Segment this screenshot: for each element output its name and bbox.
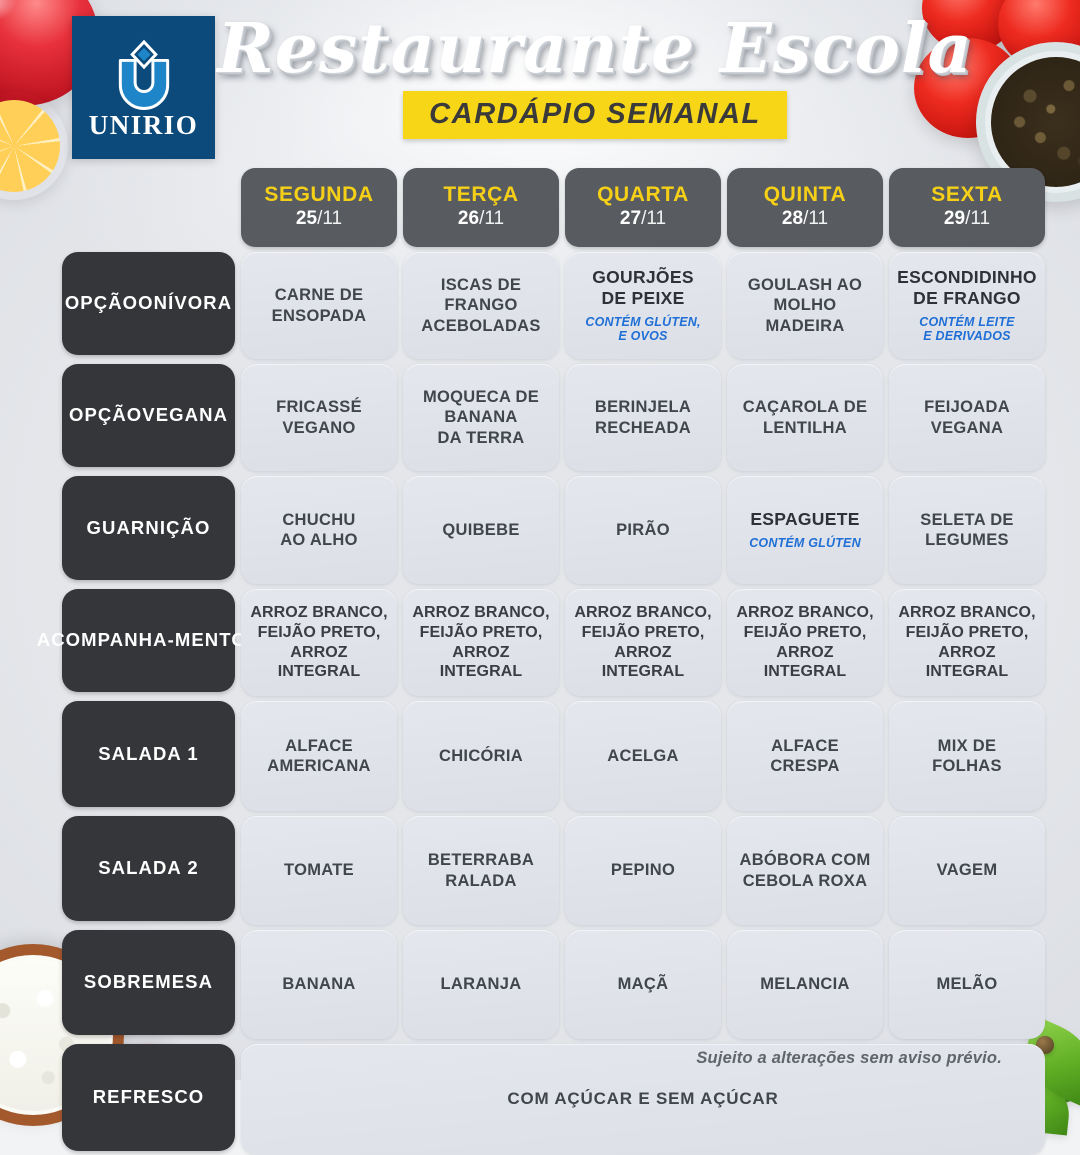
page-header: UNIRIO Restaurante Escola CARDÁPIO SEMAN… <box>0 0 1080 168</box>
row-label-7: SOBREMESA <box>62 930 235 1035</box>
day-header-terça: TERÇA26/11 <box>403 168 559 247</box>
day-date: 27/11 <box>620 208 666 231</box>
disclaimer-note: Sujeito a alterações sem aviso prévio. <box>696 1049 1002 1068</box>
cell-r2-c5: FEIJOADAVEGANA <box>889 364 1045 471</box>
cell-r3-c3: PIRÃO <box>565 476 721 584</box>
cell-text: MOQUECA DEBANANADA TERRA <box>423 387 539 447</box>
cell-text: BETERRABARALADA <box>428 850 534 890</box>
cell-text: ISCAS DEFRANGOACEBOLADAS <box>421 275 540 335</box>
day-name: SEXTA <box>931 184 1002 206</box>
unirio-crest-icon <box>107 36 181 110</box>
day-name: SEGUNDA <box>264 184 373 206</box>
row-label-3: GUARNIÇÃO <box>62 476 235 580</box>
cell-r6-c2: BETERRABARALADA <box>403 816 559 925</box>
cell-text: CARNE DEENSOPADA <box>272 285 367 325</box>
allergen-note: CONTÉM GLÚTEN,E OVOS <box>585 315 700 345</box>
cell-r1-c4: GOULASH AOMOLHOMADEIRA <box>727 252 883 359</box>
cell-text: PEPINO <box>611 860 675 880</box>
allergen-note: CONTÉM GLÚTEN <box>749 536 861 551</box>
cell-r7-c1: BANANA <box>241 930 397 1039</box>
row-label-2: OPÇÃOVEGANA <box>62 364 235 467</box>
cell-r6-c5: VAGEM <box>889 816 1045 925</box>
cell-text: SELETA DELEGUMES <box>920 510 1013 550</box>
cell-text: BANANA <box>282 974 355 994</box>
cell-r1-c5: ESCONDIDINHODE FRANGOCONTÉM LEITEE DERIV… <box>889 252 1045 359</box>
cell-text: BERINJELARECHEADA <box>595 397 691 437</box>
cell-text: QUIBEBE <box>442 520 519 540</box>
cell-text: TOMATE <box>284 860 354 880</box>
day-header-sexta: SEXTA29/11 <box>889 168 1045 247</box>
cell-r6-c1: TOMATE <box>241 816 397 925</box>
cell-r7-c4: MELANCIA <box>727 930 883 1039</box>
unirio-logo-text: UNIRIO <box>89 112 199 139</box>
cell-text: ABÓBORA COMCEBOLA ROXA <box>739 850 870 890</box>
day-name: QUINTA <box>764 184 847 206</box>
cell-r5-c4: ALFACECRESPA <box>727 701 883 811</box>
menu-grid: SEGUNDA25/11TERÇA26/11QUARTA27/11QUINTA2… <box>62 168 1018 1155</box>
cell-text: CHUCHUAO ALHO <box>280 510 358 550</box>
cell-text: ALFACECRESPA <box>770 736 839 776</box>
cell-r3-c1: CHUCHUAO ALHO <box>241 476 397 584</box>
cell-r6-c4: ABÓBORA COMCEBOLA ROXA <box>727 816 883 925</box>
cell-text: ARROZ BRANCO,FEIJÃO PRETO,ARROZ INTEGRAL <box>410 603 552 681</box>
cell-r2-c4: CAÇAROLA DELENTILHA <box>727 364 883 471</box>
cell-text: FEIJOADAVEGANA <box>924 397 1010 437</box>
cell-r1-c2: ISCAS DEFRANGOACEBOLADAS <box>403 252 559 359</box>
grid-corner-spacer <box>62 168 235 247</box>
cell-r3-c5: SELETA DELEGUMES <box>889 476 1045 584</box>
day-date: 29/11 <box>944 208 990 231</box>
page-title: Restaurante Escola <box>215 14 975 85</box>
cell-text: GOULASH AOMOLHOMADEIRA <box>748 275 862 335</box>
cell-r3-c4: ESPAGUETECONTÉM GLÚTEN <box>727 476 883 584</box>
cell-r5-c2: CHICÓRIA <box>403 701 559 811</box>
cell-r3-c2: QUIBEBE <box>403 476 559 584</box>
cell-r7-c3: MAÇÃ <box>565 930 721 1039</box>
cell-text: ARROZ BRANCO,FEIJÃO PRETO,ARROZ INTEGRAL <box>572 603 714 681</box>
cell-r4-c2: ARROZ BRANCO,FEIJÃO PRETO,ARROZ INTEGRAL <box>403 589 559 696</box>
cell-text: ARROZ BRANCO,FEIJÃO PRETO,ARROZ INTEGRAL <box>734 603 876 681</box>
row-label-8: REFRESCO <box>62 1044 235 1151</box>
day-header-segunda: SEGUNDA25/11 <box>241 168 397 247</box>
cell-text: MELANCIA <box>760 974 849 994</box>
cell-text: CHICÓRIA <box>439 746 523 766</box>
cell-r1-c3: GOURJÕESDE PEIXECONTÉM GLÚTEN,E OVOS <box>565 252 721 359</box>
cell-r2-c3: BERINJELARECHEADA <box>565 364 721 471</box>
cell-text: ARROZ BRANCO,FEIJÃO PRETO,ARROZ INTEGRAL <box>896 603 1038 681</box>
cell-text: CAÇAROLA DELENTILHA <box>743 397 868 437</box>
cell-r6-c3: PEPINO <box>565 816 721 925</box>
cell-text: ESPAGUETE <box>750 509 859 530</box>
day-header-quarta: QUARTA27/11 <box>565 168 721 247</box>
cell-r4-c1: ARROZ BRANCO,FEIJÃO PRETO,ARROZ INTEGRAL <box>241 589 397 696</box>
cell-r5-c1: ALFACEAMERICANA <box>241 701 397 811</box>
unirio-logo: UNIRIO <box>72 16 215 159</box>
cell-text: PIRÃO <box>616 520 670 540</box>
cell-r4-c3: ARROZ BRANCO,FEIJÃO PRETO,ARROZ INTEGRAL <box>565 589 721 696</box>
cell-r5-c5: MIX DEFOLHAS <box>889 701 1045 811</box>
cell-text: ARROZ BRANCO,FEIJÃO PRETO,ARROZ INTEGRAL <box>248 603 390 681</box>
cell-text: MIX DEFOLHAS <box>932 736 1002 776</box>
cell-text: MAÇÃ <box>618 974 669 994</box>
subtitle-badge: CARDÁPIO SEMANAL <box>403 91 787 139</box>
allergen-note: CONTÉM LEITEE DERIVADOS <box>919 315 1014 345</box>
cell-text: GOURJÕESDE PEIXE <box>592 267 694 310</box>
cell-r4-c4: ARROZ BRANCO,FEIJÃO PRETO,ARROZ INTEGRAL <box>727 589 883 696</box>
cell-text: LARANJA <box>441 974 522 994</box>
row-label-4: ACOMPANHA-MENTOS <box>62 589 235 692</box>
cell-text: ALFACEAMERICANA <box>267 736 371 776</box>
cell-text: VAGEM <box>937 860 998 880</box>
cell-r7-c2: LARANJA <box>403 930 559 1039</box>
cell-r7-c5: MELÃO <box>889 930 1045 1039</box>
cell-text: FRICASSÉVEGANO <box>276 397 362 437</box>
day-date: 25/11 <box>296 208 342 231</box>
day-date: 26/11 <box>458 208 504 231</box>
cell-r1-c1: CARNE DEENSOPADA <box>241 252 397 359</box>
day-header-quinta: QUINTA28/11 <box>727 168 883 247</box>
cell-text: ACELGA <box>607 746 678 766</box>
row-label-1: OPÇÃOONÍVORA <box>62 252 235 355</box>
day-date: 28/11 <box>782 208 828 231</box>
title-block: Restaurante Escola CARDÁPIO SEMANAL <box>215 8 975 139</box>
cell-r5-c3: ACELGA <box>565 701 721 811</box>
cell-r2-c1: FRICASSÉVEGANO <box>241 364 397 471</box>
cell-text: MELÃO <box>936 974 997 994</box>
day-name: QUARTA <box>597 184 689 206</box>
day-name: TERÇA <box>443 184 518 206</box>
cell-r4-c5: ARROZ BRANCO,FEIJÃO PRETO,ARROZ INTEGRAL <box>889 589 1045 696</box>
cell-text: ESCONDIDINHODE FRANGO <box>897 267 1037 310</box>
cell-r2-c2: MOQUECA DEBANANADA TERRA <box>403 364 559 471</box>
row-label-6: SALADA 2 <box>62 816 235 921</box>
row-label-5: SALADA 1 <box>62 701 235 807</box>
